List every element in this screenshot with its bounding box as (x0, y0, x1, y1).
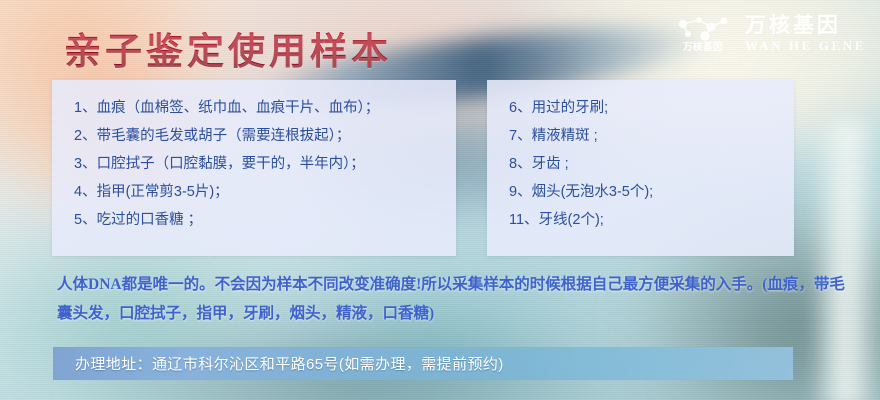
logo-mark-caption: 万核基因 (683, 43, 723, 53)
list-item: 7、精液精斑 ; (509, 122, 794, 150)
logo-mark: 万核基因 (675, 15, 731, 53)
logo-wordmark: 万核基因 WAN HE GENE (745, 14, 866, 53)
list-item: 2、带毛囊的毛发或胡子（需要连根拔起）； (74, 122, 456, 150)
sample-panel-left: 1、血痕（血棉签、纸巾血、血痕干片、血布）； 2、带毛囊的毛发或胡子（需要连根拔… (52, 80, 456, 256)
list-item: 4、指甲(正常剪3-5片)； (74, 178, 456, 206)
list-item: 3、口腔拭子（口腔黏膜，要干的，半年内）； (74, 150, 456, 178)
list-item: 8、牙齿 ; (509, 150, 794, 178)
background-blob-glass-column (810, 120, 880, 400)
address-text: 办理地址：通辽市科尔沁区和平路65号(如需办理，需提前预约) (53, 353, 504, 374)
description-paragraph: 人体DNA都是唯一的。不会因为样本不同改变准确度!所以采集样本的时候根据自己最方… (57, 270, 847, 328)
brand-logo: 万核基因 万核基因 WAN HE GENE (675, 14, 866, 53)
sample-list-right: 6、用过的牙刷; 7、精液精斑 ; 8、牙齿 ; 9、烟头(无泡水3-5个); … (487, 80, 794, 234)
list-item: 9、烟头(无泡水3-5个); (509, 178, 794, 206)
poster-root: 万核基因 万核基因 WAN HE GENE 亲子鉴定使用样本 1、血痕（血棉签、… (0, 0, 880, 400)
list-item: 1、血痕（血棉签、纸巾血、血痕干片、血布）； (74, 94, 456, 122)
logo-name-en: WAN HE GENE (745, 39, 866, 53)
list-item: 11、牙线(2个); (509, 206, 794, 234)
sample-list-left: 1、血痕（血棉签、纸巾血、血痕干片、血布）； 2、带毛囊的毛发或胡子（需要连根拔… (52, 80, 456, 234)
address-bar: 办理地址：通辽市科尔沁区和平路65号(如需办理，需提前预约) (53, 347, 793, 380)
dna-molecule-icon (675, 15, 731, 41)
list-item: 5、吃过的口香糖 ； (74, 206, 456, 234)
page-title: 亲子鉴定使用样本 (64, 21, 392, 75)
logo-name-cn: 万核基因 (745, 14, 866, 37)
sample-panel-right: 6、用过的牙刷; 7、精液精斑 ; 8、牙齿 ; 9、烟头(无泡水3-5个); … (487, 80, 794, 256)
list-item: 6、用过的牙刷; (509, 94, 794, 122)
